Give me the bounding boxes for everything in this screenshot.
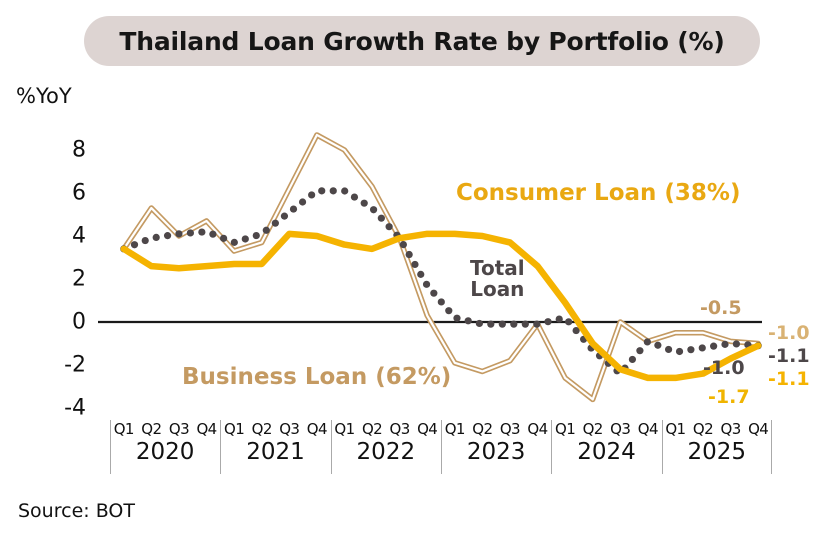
x-axis-quarter-2025-Q3: Q3	[721, 420, 741, 438]
x-axis-quarter-2021-Q3: Q3	[279, 420, 299, 438]
x-axis-separator	[441, 420, 442, 474]
legend-business-loan: Business Loan (62%)	[182, 364, 451, 390]
x-axis-quarter-row: Q1Q2Q3Q4	[220, 420, 330, 438]
x-axis-quarter-2024-Q4: Q4	[638, 420, 658, 438]
x-axis-year-2022: Q1Q2Q3Q42022	[331, 418, 441, 480]
x-axis-quarter-2025-Q2: Q2	[693, 420, 713, 438]
x-axis-quarter-2021-Q2: Q2	[252, 420, 272, 438]
x-axis-quarter-row: Q1Q2Q3Q4	[331, 420, 441, 438]
x-axis-year-label: 2020	[136, 439, 195, 465]
x-axis-year-label: 2021	[246, 439, 305, 465]
legend-consumer-loan: Consumer Loan (38%)	[456, 180, 740, 206]
x-axis-quarter-2020-Q4: Q4	[196, 420, 216, 438]
legend-total-loan: Total Loan	[470, 258, 525, 300]
x-axis-separator	[110, 420, 111, 474]
x-axis-year-2020: Q1Q2Q3Q42020	[110, 418, 220, 480]
x-axis-quarter-2020-Q3: Q3	[169, 420, 189, 438]
x-axis-quarter-2025-Q1: Q1	[665, 420, 685, 438]
value-label-consumer-inline: -1.7	[708, 386, 750, 408]
x-axis-quarter-2023-Q3: Q3	[500, 420, 520, 438]
x-axis-year-2024: Q1Q2Q3Q42024	[551, 418, 661, 480]
x-axis-quarter-2020-Q2: Q2	[141, 420, 161, 438]
x-axis-year-label: 2025	[688, 439, 747, 465]
x-axis-separator	[331, 420, 332, 474]
series-total-loan	[120, 187, 762, 374]
x-axis-quarter-row: Q1Q2Q3Q4	[662, 420, 772, 438]
x-axis-quarter-2023-Q2: Q2	[472, 420, 492, 438]
x-axis-quarter-2022-Q2: Q2	[362, 420, 382, 438]
x-axis-quarter-2023-Q4: Q4	[527, 420, 547, 438]
x-axis-quarter-2024-Q1: Q1	[555, 420, 575, 438]
value-label-business-upper: -0.5	[700, 297, 742, 319]
x-axis-quarter-2022-Q4: Q4	[417, 420, 437, 438]
x-axis-quarter-2021-Q1: Q1	[224, 420, 244, 438]
x-axis-separator	[551, 420, 552, 474]
x-axis-quarter-2023-Q1: Q1	[445, 420, 465, 438]
x-axis-quarter-row: Q1Q2Q3Q4	[441, 420, 551, 438]
x-axis-year-2025: Q1Q2Q3Q42025	[662, 418, 772, 480]
x-axis-quarter-2020-Q1: Q1	[114, 420, 134, 438]
x-axis-separator-end	[771, 420, 772, 474]
x-axis-year-2021: Q1Q2Q3Q42021	[220, 418, 330, 480]
x-axis-quarter-row: Q1Q2Q3Q4	[551, 420, 661, 438]
source-note: Source: BOT	[18, 500, 135, 522]
x-axis-year-label: 2022	[357, 439, 416, 465]
value-label-business-end: -1.0	[768, 322, 810, 344]
x-axis-year-label: 2024	[577, 439, 636, 465]
x-axis-separator	[662, 420, 663, 474]
x-axis-year-label: 2023	[467, 439, 526, 465]
x-axis-quarter-row: Q1Q2Q3Q4	[110, 420, 220, 438]
value-label-total-inline: -1.0	[703, 357, 745, 379]
value-label-total-end: -1.1	[768, 345, 810, 367]
chart-container: Thailand Loan Growth Rate by Portfolio (…	[0, 0, 840, 550]
legend-total-loan-line2: Loan	[470, 277, 524, 301]
x-axis-quarter-2024-Q2: Q2	[583, 420, 603, 438]
x-axis-separator	[220, 420, 221, 474]
x-axis-quarter-2021-Q4: Q4	[307, 420, 327, 438]
x-axis: Q1Q2Q3Q42020Q1Q2Q3Q42021Q1Q2Q3Q42022Q1Q2…	[110, 418, 772, 480]
value-label-consumer-end: -1.1	[768, 368, 810, 390]
x-axis-quarter-2024-Q3: Q3	[610, 420, 630, 438]
series-consumer-loan	[124, 234, 758, 378]
x-axis-quarter-2025-Q4: Q4	[748, 420, 768, 438]
x-axis-year-2023: Q1Q2Q3Q42023	[441, 418, 551, 480]
x-axis-quarter-2022-Q3: Q3	[390, 420, 410, 438]
x-axis-quarter-2022-Q1: Q1	[334, 420, 354, 438]
